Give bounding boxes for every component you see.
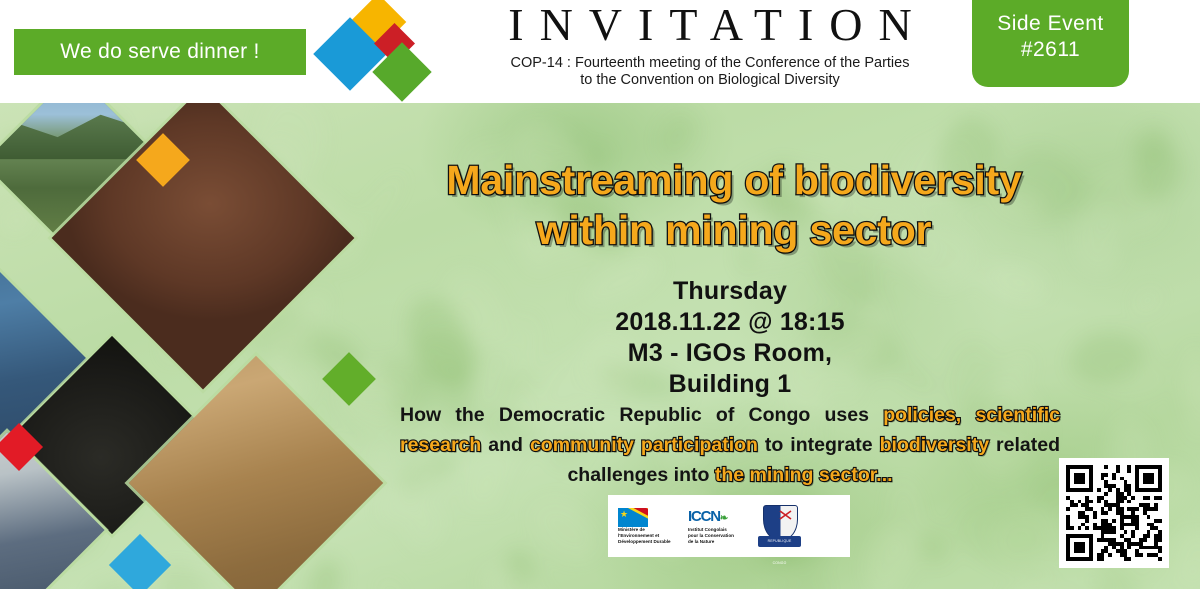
desc-highlight-mining-sector: the mining sector... — [715, 464, 893, 486]
qr-code[interactable] — [1059, 458, 1169, 568]
poster-header: We do serve dinner ! INVITATION COP-14 :… — [0, 0, 1200, 103]
event-date-time: 2018.11.22 @ 18:15 — [540, 307, 920, 338]
event-title-line1: Mainstreaming of biodiversity — [392, 155, 1076, 205]
invitation-poster: Mainstreaming of biodiversity within min… — [0, 0, 1200, 589]
cop-subtitle: COP-14 : Fourteenth meeting of the Confe… — [440, 55, 980, 89]
leaf-icon: ❧ — [720, 513, 727, 524]
photo-collage — [0, 103, 440, 589]
cop-diamond-logo — [318, 2, 438, 102]
desc-segment-1: How the Democratic Republic of Congo use… — [400, 404, 883, 426]
event-room: M3 - IGOs Room, — [540, 338, 920, 369]
event-datetime-block: Thursday 2018.11.22 @ 18:15 M3 - IGOs Ro… — [540, 276, 920, 400]
desc-highlight-community-participation: community participation — [530, 434, 758, 456]
desc-highlight-policies: policies, — [883, 404, 961, 426]
cop-subtitle-line2: to the Convention on Biological Diversit… — [440, 72, 980, 89]
invitation-heading: INVITATION — [440, 2, 980, 48]
drc-caption-line3: Développement Durable — [618, 539, 680, 545]
poster-background: Mainstreaming of biodiversity within min… — [0, 103, 1200, 589]
iccn-caption: Institut Congolais pour la Conservation … — [688, 527, 750, 545]
qr-code-icon — [1066, 465, 1162, 561]
iccn-logo: ICCN❧ Institut Congolais pour la Conserv… — [688, 508, 750, 545]
iccn-caption-line3: de la Nature — [688, 539, 750, 545]
drc-ministry-logo: ★ Ministère de l'Environnement et Dévelo… — [618, 508, 680, 545]
event-description: How the Democratic Republic of Congo use… — [400, 400, 1060, 490]
accent-green-diamond — [322, 352, 376, 406]
event-day: Thursday — [540, 276, 920, 307]
desc-segment-4: to integrate — [758, 434, 880, 456]
cop-subtitle-line1: COP-14 : Fourteenth meeting of the Confe… — [440, 55, 980, 72]
crossed-pick-icon — [779, 510, 792, 520]
side-event-badge: Side Event #2611 — [972, 0, 1129, 87]
iccn-wordmark-icon: ICCN❧ — [688, 508, 750, 527]
side-event-label: Side Event — [997, 11, 1104, 37]
mining-ministry-shield-logo: REPUBLIQUE DEMOCRATIQUE DU CONGO — [758, 503, 801, 550]
drc-ministry-caption: Ministère de l'Environnement et Développ… — [618, 527, 680, 545]
drc-flag-icon: ★ — [618, 508, 648, 527]
event-title: Mainstreaming of biodiversity within min… — [392, 155, 1076, 255]
iccn-mark-text: ICCN — [688, 508, 720, 525]
event-building: Building 1 — [540, 369, 920, 400]
partner-logos: ★ Ministère de l'Environnement et Dévelo… — [608, 495, 850, 557]
event-title-line2: within mining sector — [392, 205, 1076, 255]
dinner-banner: We do serve dinner ! — [14, 29, 306, 75]
desc-segment-2 — [961, 404, 975, 426]
flag-star-icon: ★ — [620, 510, 628, 519]
desc-segment-3: and — [481, 434, 530, 456]
side-event-number: #2611 — [1021, 37, 1080, 63]
dinner-banner-label: We do serve dinner ! — [60, 40, 259, 64]
shield-ribbon: REPUBLIQUE DEMOCRATIQUE DU CONGO — [758, 536, 801, 547]
accent-blue-diamond — [109, 534, 171, 589]
desc-highlight-biodiversity: biodiversity — [880, 434, 989, 456]
